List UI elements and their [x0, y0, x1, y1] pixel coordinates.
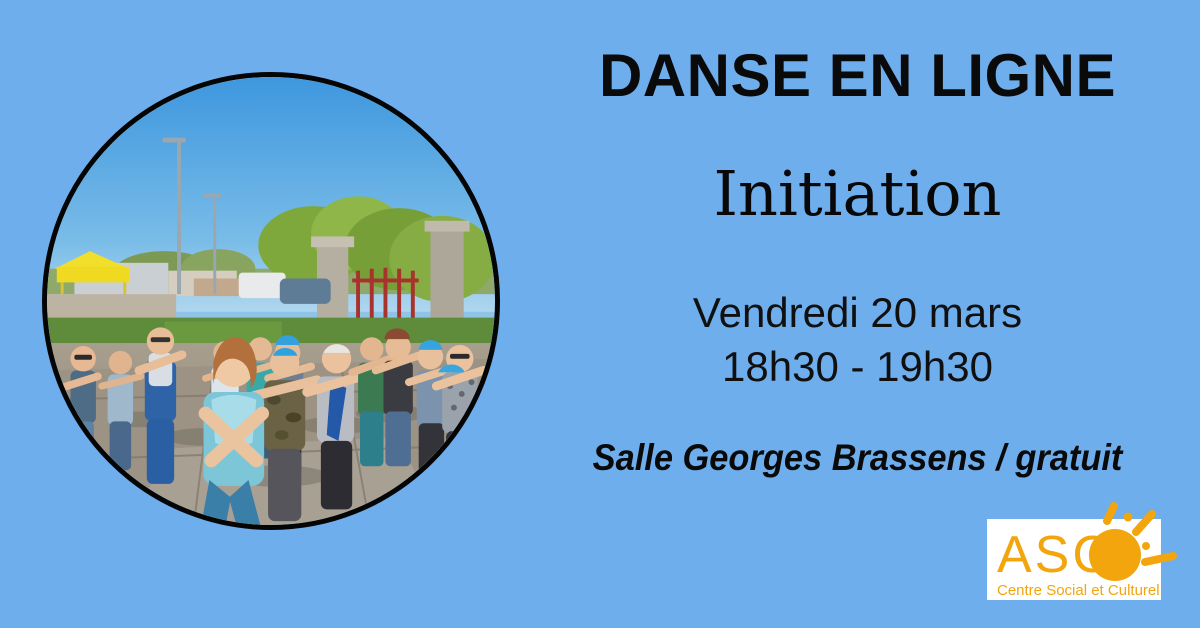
- asco-logo: ASC Centre Social et Culturel: [987, 500, 1187, 610]
- event-photo: [47, 77, 495, 525]
- event-schedule: Vendredi 20 mars 18h30 - 19h30: [515, 286, 1200, 394]
- event-time: 18h30 - 19h30: [515, 340, 1200, 394]
- poster-canvas: DANSE EN LIGNE Initiation Vendredi 20 ma…: [0, 0, 1200, 628]
- event-date: Vendredi 20 mars: [515, 286, 1200, 340]
- poster-subtitle: Initiation: [515, 160, 1200, 228]
- logo-tagline: Centre Social et Culturel: [997, 582, 1160, 599]
- page-title: DANSE EN LIGNE: [515, 44, 1200, 107]
- event-venue: Salle Georges Brassens / gratuit: [539, 437, 1176, 479]
- event-photo-circle: [42, 72, 500, 530]
